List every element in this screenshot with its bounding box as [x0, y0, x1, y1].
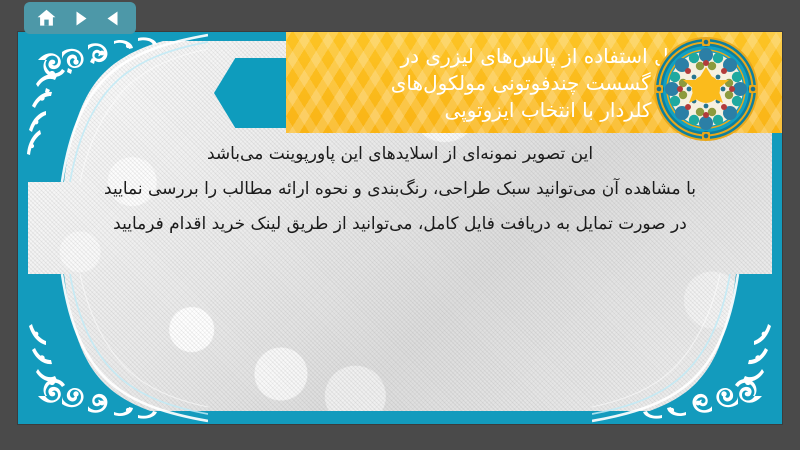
previous-slide-button[interactable]	[99, 5, 127, 31]
body-line-3: در صورت تمایل به دریافت فایل کامل، می‌تو…	[113, 212, 687, 236]
slide-title: کامل استفاده از پالس‌های لیزری در فرآیند…	[286, 32, 782, 133]
slide-viewer: کامل استفاده از پالس‌های لیزری در فرآیند…	[0, 0, 800, 450]
title-banner: کامل استفاده از پالس‌های لیزری در فرآیند…	[286, 32, 782, 133]
slide-frame: کامل استفاده از پالس‌های لیزری در فرآیند…	[18, 32, 782, 424]
next-slide-icon	[71, 9, 90, 28]
navigation-toolbar	[24, 2, 136, 34]
home-icon	[36, 8, 57, 29]
slide-body: این تصویر نمونه‌ای از اسلایدهای این پاور…	[48, 142, 752, 236]
previous-slide-icon	[104, 9, 123, 28]
body-line-2: با مشاهده آن می‌توانید سبک طراحی، رنگ‌بن…	[104, 177, 696, 201]
title-line-2: فرآیند گسست چندفوتونی مولکول‌های	[391, 70, 705, 96]
body-line-1: این تصویر نمونه‌ای از اسلایدهای این پاور…	[207, 142, 593, 166]
title-line-3: کلردار با انتخاب ایزوتوپی	[445, 97, 652, 123]
home-button[interactable]	[33, 5, 61, 31]
title-line-1: کامل استفاده از پالس‌های لیزری در	[401, 43, 696, 69]
next-slide-button[interactable]	[66, 5, 94, 31]
